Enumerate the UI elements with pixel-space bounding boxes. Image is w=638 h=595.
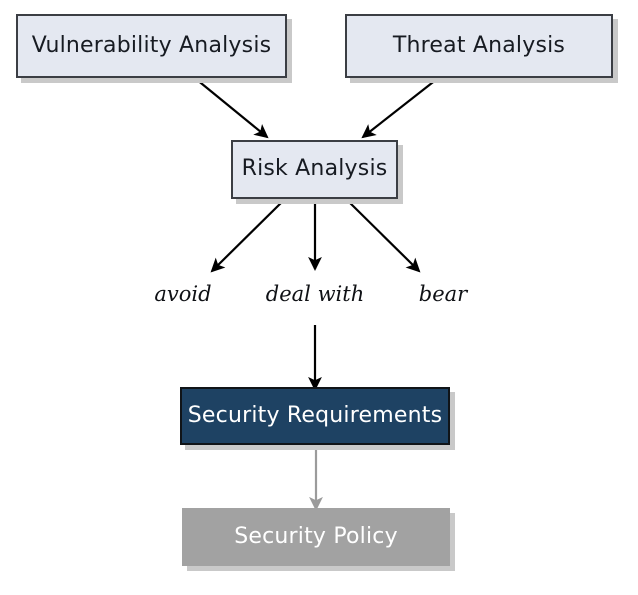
edge-label-deal-with: deal with bbox=[266, 282, 364, 306]
node-security-requirements-label: Security Requirements bbox=[188, 404, 442, 428]
node-threat-analysis-label: Threat Analysis bbox=[393, 34, 565, 58]
node-threat-analysis[interactable]: Threat Analysis bbox=[345, 14, 613, 78]
node-vulnerability-analysis-label: Vulnerability Analysis bbox=[32, 34, 272, 58]
edge-vulnerability-to-risk bbox=[196, 79, 267, 137]
node-vulnerability-analysis[interactable]: Vulnerability Analysis bbox=[16, 14, 287, 78]
node-security-requirements[interactable]: Security Requirements bbox=[180, 387, 450, 445]
edge-label-bear: bear bbox=[419, 282, 467, 306]
edge-risk-to-avoid bbox=[212, 199, 285, 271]
node-security-policy-label: Security Policy bbox=[234, 525, 398, 549]
edge-threat-to-risk bbox=[363, 79, 437, 137]
edge-label-avoid: avoid bbox=[154, 282, 211, 306]
node-security-policy[interactable]: Security Policy bbox=[182, 508, 450, 566]
node-risk-analysis[interactable]: Risk Analysis bbox=[231, 140, 398, 199]
diagram-canvas: Vulnerability Analysis Threat Analysis R… bbox=[0, 0, 638, 595]
node-risk-analysis-label: Risk Analysis bbox=[242, 157, 388, 181]
edge-risk-to-bear bbox=[346, 199, 419, 271]
